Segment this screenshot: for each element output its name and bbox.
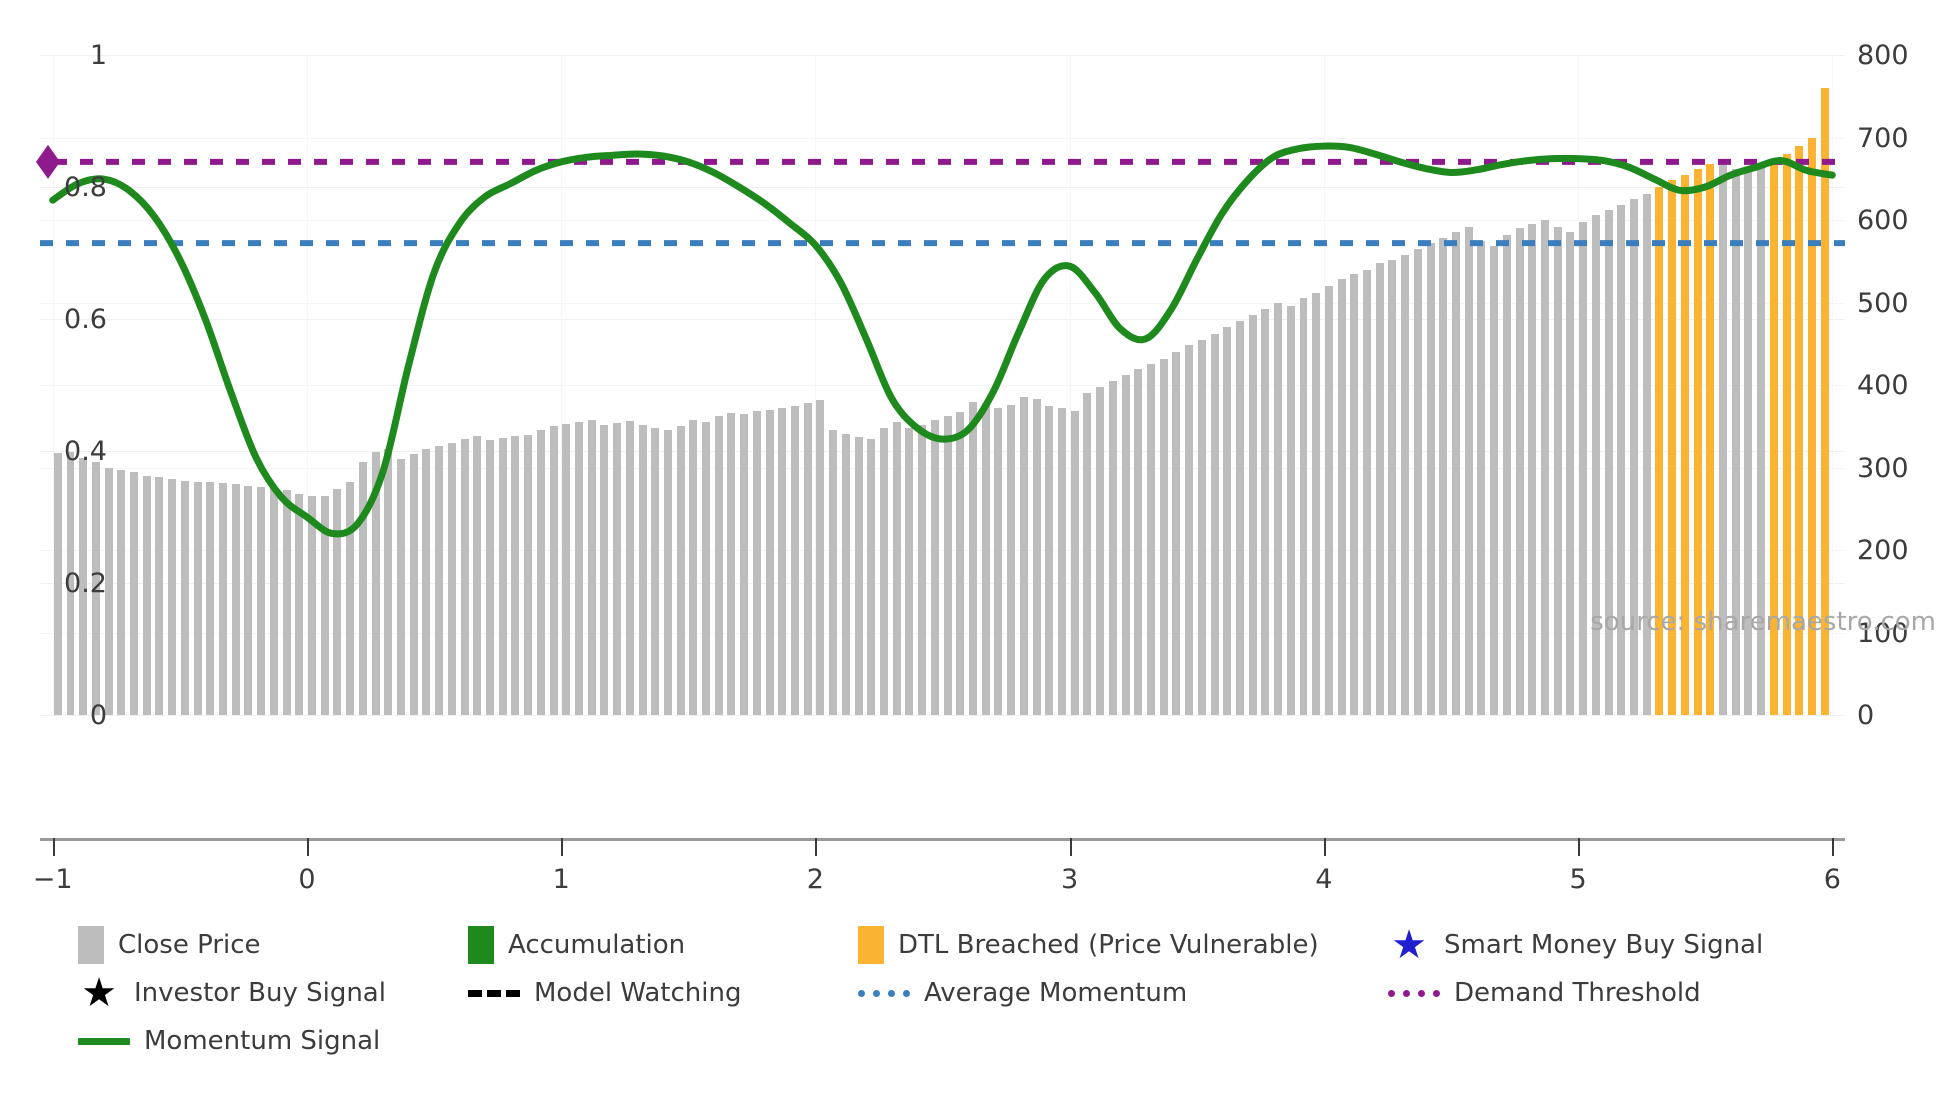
line-overlay bbox=[40, 55, 1845, 715]
legend-star-black-icon: ★ bbox=[78, 973, 120, 1013]
legend-square-green-icon bbox=[468, 926, 494, 964]
legend-dotted-blue-line-icon bbox=[858, 990, 910, 997]
y-axis-left-tick-label: 1 bbox=[90, 42, 107, 69]
demand-threshold-start-diamond-marker bbox=[36, 145, 60, 179]
y-axis-left-tick-label: 0.6 bbox=[64, 306, 107, 333]
x-axis-tick bbox=[1070, 838, 1072, 856]
y-axis-left-tick-label: 0.4 bbox=[64, 438, 107, 465]
x-axis-tick-label: 3 bbox=[1061, 866, 1078, 893]
gridline bbox=[40, 715, 1845, 716]
y-axis-right-tick-label: 300 bbox=[1857, 455, 1909, 482]
legend-item-label: Close Price bbox=[118, 930, 261, 960]
x-axis-tick bbox=[1324, 838, 1326, 856]
momentum-signal-line bbox=[53, 146, 1833, 534]
y-axis-left-tick-label: 0.8 bbox=[64, 174, 107, 201]
legend-dashed-line-icon bbox=[468, 990, 520, 997]
x-axis-tick-label: 4 bbox=[1315, 866, 1332, 893]
x-axis-tick-label: 1 bbox=[553, 866, 570, 893]
y-axis-right-tick-label: 500 bbox=[1857, 290, 1909, 317]
legend-item[interactable]: Accumulation bbox=[468, 925, 858, 965]
legend-item-label: Accumulation bbox=[508, 930, 685, 960]
plot-inner bbox=[40, 55, 1845, 715]
x-axis-tick bbox=[561, 838, 563, 856]
chart-root: 00.20.40.60.81 0100200300400500600700800… bbox=[0, 0, 1960, 1102]
y-axis-right-tick-label: 700 bbox=[1857, 125, 1909, 152]
x-axis-tick bbox=[815, 838, 817, 856]
y-axis-right-tick-label: 200 bbox=[1857, 537, 1909, 564]
y-axis-right-tick-label: 400 bbox=[1857, 372, 1909, 399]
legend-item[interactable]: ★Investor Buy Signal bbox=[78, 973, 468, 1013]
y-axis-left-tick-label: 0 bbox=[90, 702, 107, 729]
legend-dotted-purple-line-icon bbox=[1388, 990, 1440, 997]
legend-item-label: Smart Money Buy Signal bbox=[1444, 930, 1763, 960]
chart-legend: Close PriceAccumulationDTL Breached (Pri… bbox=[78, 925, 1928, 1061]
legend-square-orange-icon bbox=[858, 926, 884, 964]
x-axis-tick bbox=[53, 838, 55, 856]
legend-square-gray-icon bbox=[78, 926, 104, 964]
plot-area bbox=[40, 55, 1845, 715]
legend-item-label: Demand Threshold bbox=[1454, 978, 1701, 1008]
legend-item-label: Model Watching bbox=[534, 978, 741, 1008]
legend-item[interactable]: Average Momentum bbox=[858, 973, 1388, 1013]
legend-item[interactable]: Close Price bbox=[78, 925, 468, 965]
legend-item-label: Average Momentum bbox=[924, 978, 1187, 1008]
y-axis-right-tick-label: 800 bbox=[1857, 42, 1909, 69]
x-axis-tick-label: 2 bbox=[807, 866, 824, 893]
x-axis-tick-label: 0 bbox=[298, 866, 315, 893]
legend-item[interactable]: Demand Threshold bbox=[1388, 973, 1858, 1013]
legend-item-label: DTL Breached (Price Vulnerable) bbox=[898, 930, 1319, 960]
y-axis-right-tick-label: 0 bbox=[1857, 702, 1874, 729]
x-axis-tick bbox=[1832, 838, 1834, 856]
legend-star-blue-icon: ★ bbox=[1388, 925, 1430, 965]
legend-green-line-icon bbox=[78, 1038, 130, 1045]
x-axis-tick-label: 6 bbox=[1824, 866, 1841, 893]
legend-item[interactable]: ★Smart Money Buy Signal bbox=[1388, 925, 1858, 965]
source-attribution: source: sharemaestro.com bbox=[1590, 607, 1936, 637]
legend-item-label: Momentum Signal bbox=[144, 1026, 380, 1056]
y-axis-right-tick-label: 600 bbox=[1857, 207, 1909, 234]
x-axis-tick-label: −1 bbox=[33, 866, 73, 893]
x-axis-tick-label: 5 bbox=[1569, 866, 1586, 893]
legend-item[interactable]: Momentum Signal bbox=[78, 1021, 468, 1061]
x-axis-tick bbox=[1578, 838, 1580, 856]
legend-item-label: Investor Buy Signal bbox=[134, 978, 386, 1008]
x-axis-tick bbox=[307, 838, 309, 856]
y-axis-left-tick-label: 0.2 bbox=[64, 570, 107, 597]
x-axis-spine bbox=[40, 838, 1845, 841]
legend-item[interactable]: DTL Breached (Price Vulnerable) bbox=[858, 925, 1388, 965]
legend-item[interactable]: Model Watching bbox=[468, 973, 858, 1013]
